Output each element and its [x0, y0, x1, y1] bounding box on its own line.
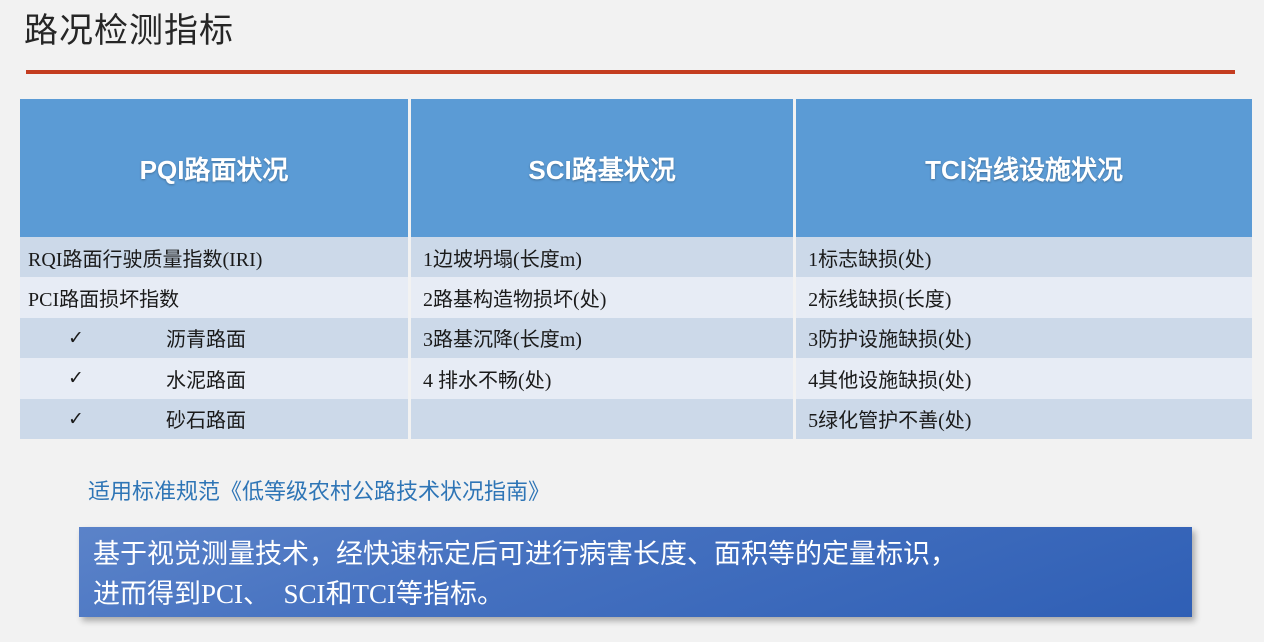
checkmark-icon: ✓: [28, 327, 124, 349]
cell-tci: 2标线缺损(长度): [796, 277, 1252, 317]
cell-pqi: PCI路面损坏指数: [20, 277, 408, 317]
table-header-pqi: PQI路面状况: [20, 99, 408, 237]
cell-tci: 5绿化管护不善(处): [796, 399, 1252, 439]
cell-pqi: RQI路面行驶质量指数(IRI): [20, 237, 408, 277]
table-row: RQI路面行驶质量指数(IRI) 1边坡坍塌(长度m) 1标志缺损(处): [20, 237, 1252, 277]
cell-sci: 4 排水不畅(处): [411, 358, 793, 398]
page-title: 路况检测指标: [24, 8, 234, 56]
title-underline-rule: [26, 70, 1235, 74]
callout-line-1: 基于视觉测量技术，经快速标定后可进行病害长度、面积等的定量标识，: [93, 534, 1178, 574]
cell-tci: 3防护设施缺损(处): [796, 318, 1252, 358]
cell-pqi-label: 沥青路面: [124, 323, 246, 352]
cell-sci: 2路基构造物损坏(处): [411, 277, 793, 317]
cell-pqi-label: 砂石路面: [124, 404, 246, 433]
road-condition-metrics-table: PQI路面状况 SCI路基状况 TCI沿线设施状况 RQI路面行驶质量指数(IR…: [20, 99, 1252, 439]
table-row: ✓ 砂石路面 5绿化管护不善(处): [20, 399, 1252, 439]
summary-callout-box: 基于视觉测量技术，经快速标定后可进行病害长度、面积等的定量标识， 进而得到PCI…: [79, 527, 1192, 617]
cell-sci: [411, 399, 793, 439]
cell-pqi: ✓ 水泥路面: [20, 358, 408, 398]
cell-tci: 4其他设施缺损(处): [796, 358, 1252, 398]
table-header-row: PQI路面状况 SCI路基状况 TCI沿线设施状况: [20, 99, 1252, 237]
checkmark-icon: ✓: [28, 367, 124, 389]
cell-sci: 1边坡坍塌(长度m): [411, 237, 793, 277]
checkmark-icon: ✓: [28, 408, 124, 430]
table-row: ✓ 水泥路面 4 排水不畅(处) 4其他设施缺损(处): [20, 358, 1252, 398]
applicable-standard-caption: 适用标准规范《低等级农村公路技术状况指南》: [88, 474, 550, 506]
callout-line-2: 进而得到PCI、 SCI和TCI等指标。: [93, 574, 1178, 614]
cell-pqi: ✓ 沥青路面: [20, 318, 408, 358]
cell-pqi-label: 水泥路面: [124, 364, 246, 393]
table-header-tci: TCI沿线设施状况: [796, 99, 1252, 237]
table-row: ✓ 沥青路面 3路基沉降(长度m) 3防护设施缺损(处): [20, 318, 1252, 358]
cell-tci: 1标志缺损(处): [796, 237, 1252, 277]
table-row: PCI路面损坏指数 2路基构造物损坏(处) 2标线缺损(长度): [20, 277, 1252, 317]
table-header-sci: SCI路基状况: [411, 99, 793, 237]
cell-sci: 3路基沉降(长度m): [411, 318, 793, 358]
cell-pqi: ✓ 砂石路面: [20, 399, 408, 439]
